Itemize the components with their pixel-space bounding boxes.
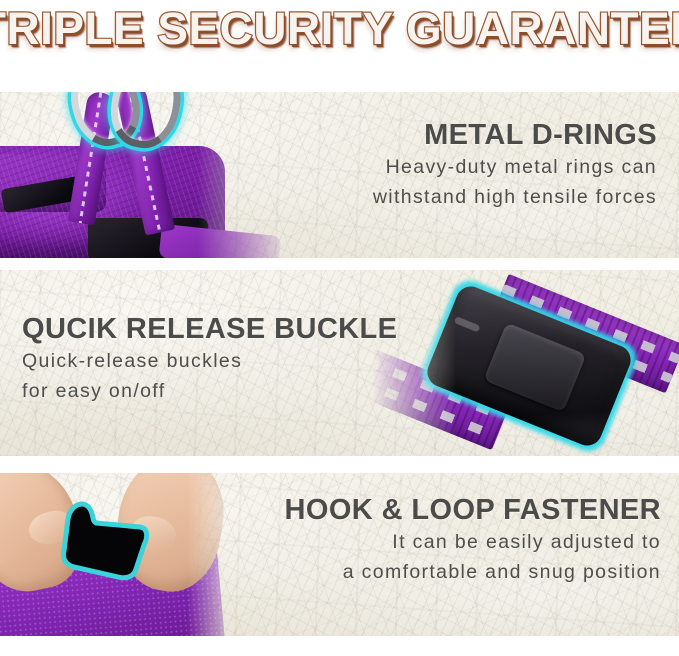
feature-heading: HOOK & LOOP FASTENER <box>285 493 661 527</box>
feature-body-line: Heavy-duty metal rings can <box>373 152 657 182</box>
feature-body-line: withstand high tensile forces <box>373 182 657 212</box>
purple-harness-with-d-rings-photo <box>0 92 300 258</box>
hook-and-loop-patch <box>44 497 152 583</box>
hands-pulling-velcro-patch-photo <box>0 473 240 636</box>
feature-body-line: It can be easily adjusted to <box>285 527 661 557</box>
side-release-buckle-photo <box>369 270 679 456</box>
feature-panel-hook-and-loop-fastener: HOOK & LOOP FASTENER It can be easily ad… <box>0 473 679 636</box>
feature-heading: METAL D-RINGS <box>373 118 657 152</box>
feature-copy-metal-d-rings: METAL D-RINGS Heavy-duty metal rings can… <box>373 118 657 212</box>
title-banner: TRIPLE SECURITY GUARANTEE <box>0 0 679 58</box>
feature-body-line: Quick-release buckles <box>22 346 397 376</box>
d-ring-icon <box>103 92 188 154</box>
feature-copy-hook-and-loop-fastener: HOOK & LOOP FASTENER It can be easily ad… <box>285 493 661 587</box>
page-title: TRIPLE SECURITY GUARANTEE <box>0 6 679 52</box>
feature-heading: QUCIK RELEASE BUCKLE <box>22 312 397 346</box>
feature-copy-quick-release-buckle: QUCIK RELEASE BUCKLE Quick-release buckl… <box>22 312 397 406</box>
feature-panel-quick-release-buckle: QUCIK RELEASE BUCKLE Quick-release buckl… <box>0 270 679 456</box>
feature-panel-metal-d-rings: METAL D-RINGS Heavy-duty metal rings can… <box>0 92 679 258</box>
feature-body-line: a comfortable and snug position <box>285 557 661 587</box>
feature-body-line: for easy on/off <box>22 376 397 406</box>
harness-strap-piece-right <box>159 224 282 258</box>
